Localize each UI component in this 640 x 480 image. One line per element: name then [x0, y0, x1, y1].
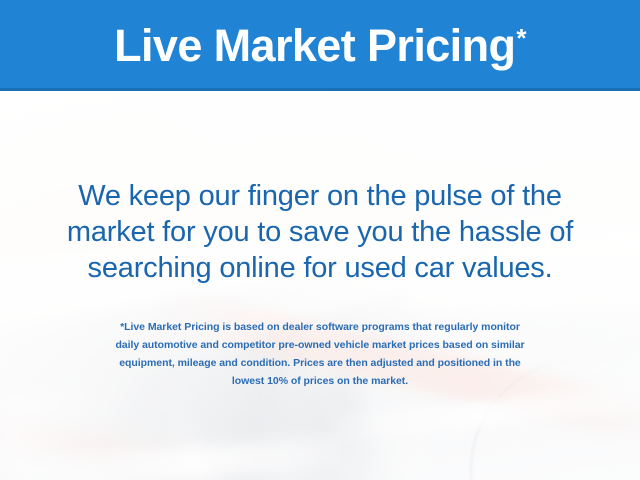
headline-line-2: market for you to save you the hassle of [0, 214, 640, 250]
headline: We keep our finger on the pulse of the m… [0, 178, 640, 286]
page-title: Live Market Pricing* [114, 23, 526, 68]
header-band: Live Market Pricing* [0, 0, 640, 91]
disclaimer-line-3: equipment, mileage and condition. Prices… [20, 354, 620, 372]
page-title-text: Live Market Pricing [114, 23, 515, 68]
disclaimer: *Live Market Pricing is based on dealer … [20, 318, 620, 390]
disclaimer-line-2: daily automotive and competitor pre-owne… [20, 336, 620, 354]
disclaimer-line-1: *Live Market Pricing is based on dealer … [20, 318, 620, 336]
title-asterisk-marker: * [516, 25, 526, 51]
live-market-pricing-slide: Live Market Pricing* We keep our finger … [0, 0, 640, 480]
disclaimer-line-4: lowest 10% of prices on the market. [20, 372, 620, 390]
headline-line-3: searching online for used car values. [0, 250, 640, 286]
headline-line-1: We keep our finger on the pulse of the [0, 178, 640, 214]
